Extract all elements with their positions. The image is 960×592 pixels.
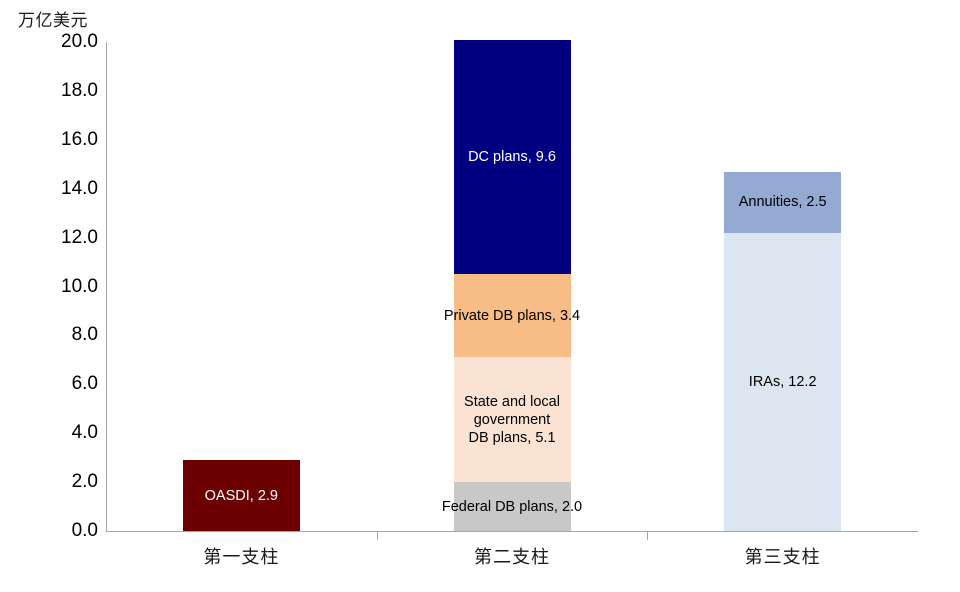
x-axis-category-label: 第三支柱 — [647, 543, 918, 569]
y-axis-tick-label: 14.0 — [14, 178, 98, 200]
y-axis-tick-labels: 20.018.016.014.012.010.08.06.04.02.00.0 — [0, 0, 98, 592]
bar-segment-label: OASDI, 2.9 — [205, 487, 278, 505]
bar-segment[interactable]: IRAs, 12.2 — [724, 233, 841, 531]
bar-segment-label: IRAs, 12.2 — [749, 373, 817, 391]
bar-segment-label: Federal DB plans, 2.0 — [442, 498, 582, 516]
y-axis-tick-label: 8.0 — [14, 324, 98, 346]
bar-stack[interactable]: Annuities, 2.5IRAs, 12.2 — [724, 172, 841, 531]
bar-segment[interactable]: Annuities, 2.5 — [724, 172, 841, 233]
bar-segment[interactable]: OASDI, 2.9 — [183, 460, 300, 531]
y-axis-tick-label: 0.0 — [14, 520, 98, 542]
bar-segment-label: Annuities, 2.5 — [739, 193, 827, 211]
bar-segment-label: State and local government DB plans, 5.1 — [464, 393, 560, 447]
x-axis-category-label: 第二支柱 — [377, 543, 648, 569]
y-axis-tick-label: 18.0 — [14, 80, 98, 102]
y-axis-tick-label: 16.0 — [14, 129, 98, 151]
x-axis-separator-tick — [377, 531, 378, 540]
bar-segment[interactable]: State and local government DB plans, 5.1 — [454, 357, 571, 482]
x-axis-category-label: 第一支柱 — [106, 543, 377, 569]
bar-segment[interactable]: Private DB plans, 3.4 — [454, 274, 571, 357]
bar-stack[interactable]: DC plans, 9.6Private DB plans, 3.4State … — [454, 40, 571, 531]
bar-segment[interactable]: Federal DB plans, 2.0 — [454, 482, 571, 531]
bar-segment-label: Private DB plans, 3.4 — [444, 307, 580, 325]
bar-segment-label: DC plans, 9.6 — [468, 148, 556, 166]
y-axis-tick-label: 6.0 — [14, 373, 98, 395]
y-axis-tick-label: 10.0 — [14, 276, 98, 298]
y-axis-tick-label: 2.0 — [14, 471, 98, 493]
y-axis-tick-label: 12.0 — [14, 227, 98, 249]
y-axis-tick-label: 20.0 — [14, 31, 98, 53]
x-axis-separator-tick — [647, 531, 648, 540]
stacked-bar-chart: 万亿美元 20.018.016.014.012.010.08.06.04.02.… — [0, 0, 960, 592]
y-axis-line — [106, 42, 107, 531]
bar-stack[interactable]: OASDI, 2.9 — [183, 460, 300, 531]
x-axis-line — [106, 531, 918, 532]
y-axis-tick-label: 4.0 — [14, 422, 98, 444]
bar-segment[interactable]: DC plans, 9.6 — [454, 40, 571, 275]
